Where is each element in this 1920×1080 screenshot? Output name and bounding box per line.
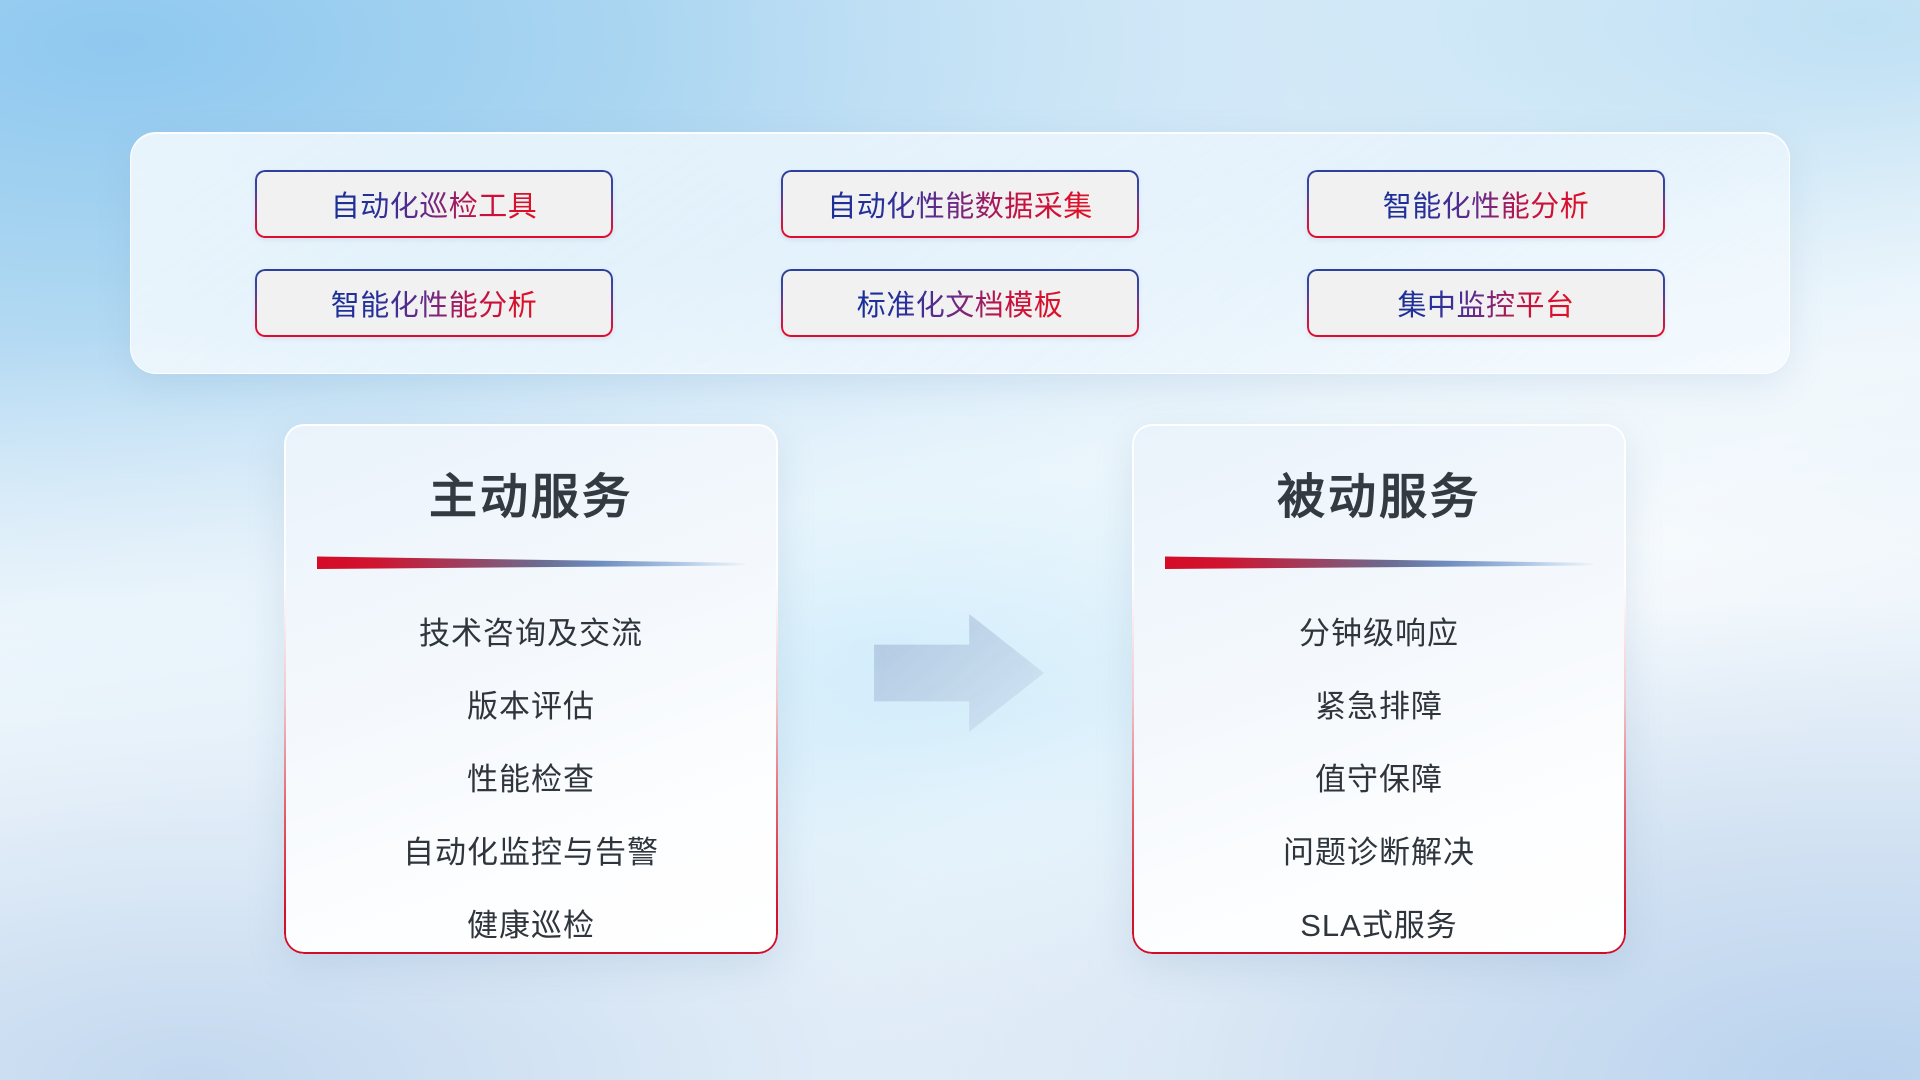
list-item: 紧急排障 [1315,670,1443,743]
capability-pill-standardized-document-template[interactable]: 标准化文档模板 [781,269,1139,337]
service-card-divider [1165,553,1593,569]
capability-pill-label: 集中监控平台 [1397,282,1574,324]
list-item: 自动化监控与告警 [403,816,659,889]
service-card-item-list: 分钟级响应 紧急排障 值守保障 问题诊断解决 SLA式服务 [1132,597,1626,954]
capability-pill-label: 自动化性能数据采集 [827,183,1093,225]
capability-pill-grid: 自动化巡检工具 自动化性能数据采集 智能化性能分析 智能化性能分析 标准化文档模… [131,133,1789,373]
list-item: 版本评估 [467,670,595,743]
list-item: 健康巡检 [467,889,595,954]
service-card-title: 被动服务 [1132,457,1626,527]
capability-pill-intelligent-performance-analysis-bottom[interactable]: 智能化性能分析 [255,269,613,337]
divider-gradient-bar [317,553,745,569]
capability-pill-label: 自动化巡检工具 [331,183,538,225]
list-item: 性能检查 [467,743,595,816]
capability-pill-label: 智能化性能分析 [331,282,538,324]
list-item: 值守保障 [1315,743,1443,816]
capability-pill-label: 标准化文档模板 [857,282,1064,324]
capability-pill-intelligent-performance-analysis-top[interactable]: 智能化性能分析 [1307,170,1665,238]
service-card-proactive[interactable]: 主动服务 技术咨询及交流 版本评估 性能检查 自动化监控与告警 健康巡检 [284,424,778,954]
capability-pill-label: 智能化性能分析 [1383,183,1590,225]
list-item: 技术咨询及交流 [419,597,643,670]
capability-panel: 自动化巡检工具 自动化性能数据采集 智能化性能分析 智能化性能分析 标准化文档模… [130,132,1790,374]
capability-pill-centralized-monitoring-platform[interactable]: 集中监控平台 [1307,269,1665,337]
capability-pill-automated-performance-data-collection[interactable]: 自动化性能数据采集 [781,170,1139,238]
service-card-divider [317,553,745,569]
service-card-reactive[interactable]: 被动服务 分钟级响应 紧急排障 值守保障 问题诊断解决 SLA式服务 [1132,424,1626,954]
list-item: 分钟级响应 [1299,597,1459,670]
list-item: SLA式服务 [1300,889,1458,954]
list-item: 问题诊断解决 [1283,816,1475,889]
service-card-title: 主动服务 [284,457,778,527]
service-card-item-list: 技术咨询及交流 版本评估 性能检查 自动化监控与告警 健康巡检 [284,597,778,954]
capability-pill-automated-inspection-tool[interactable]: 自动化巡检工具 [255,170,613,238]
divider-gradient-bar [1165,553,1593,569]
